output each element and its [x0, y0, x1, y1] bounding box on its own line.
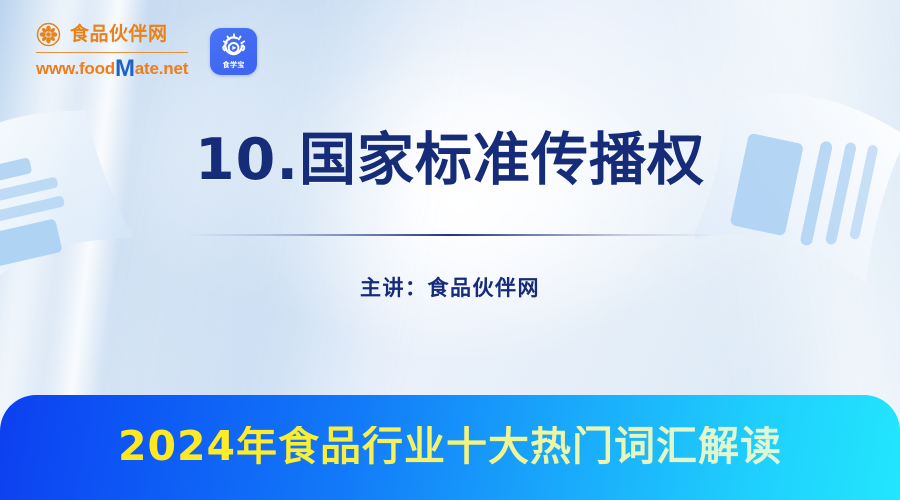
- foodmate-logo[interactable]: 食品伙伴网 www.foodMate.net: [36, 22, 188, 81]
- foodmate-url-suffix: ate.net: [135, 59, 188, 78]
- foodmate-cn-name: 食品伙伴网: [70, 25, 168, 44]
- foodmate-url[interactable]: www.foodMate.net: [36, 56, 188, 81]
- shixuebao-app-label: 食学宝: [223, 62, 245, 69]
- title-divider: [185, 234, 715, 236]
- bottom-banner: 2024年食品行业十大热门词汇解读: [0, 395, 900, 500]
- header-logos: 食品伙伴网 www.foodMate.net: [36, 22, 257, 81]
- page-title: 10.国家标准传播权: [195, 128, 705, 194]
- foodmate-url-prefix: www.food: [36, 59, 115, 78]
- banner-title: 2024年食品行业十大热门词汇解读: [118, 426, 782, 469]
- foodmate-rule: [36, 52, 188, 53]
- slide-body: 10.国家标准传播权 主讲：食品伙伴网: [0, 128, 900, 302]
- flower-emblem-icon: [36, 22, 61, 47]
- eye-play-icon: [219, 33, 249, 61]
- foodmate-url-m: M: [115, 55, 135, 82]
- foodmate-logo-top: 食品伙伴网: [36, 22, 188, 47]
- shixuebao-app-icon[interactable]: 食学宝: [210, 28, 257, 75]
- presentation-slide: 食品伙伴网 www.foodMate.net: [0, 0, 900, 500]
- presenter-subtitle: 主讲：食品伙伴网: [360, 272, 540, 302]
